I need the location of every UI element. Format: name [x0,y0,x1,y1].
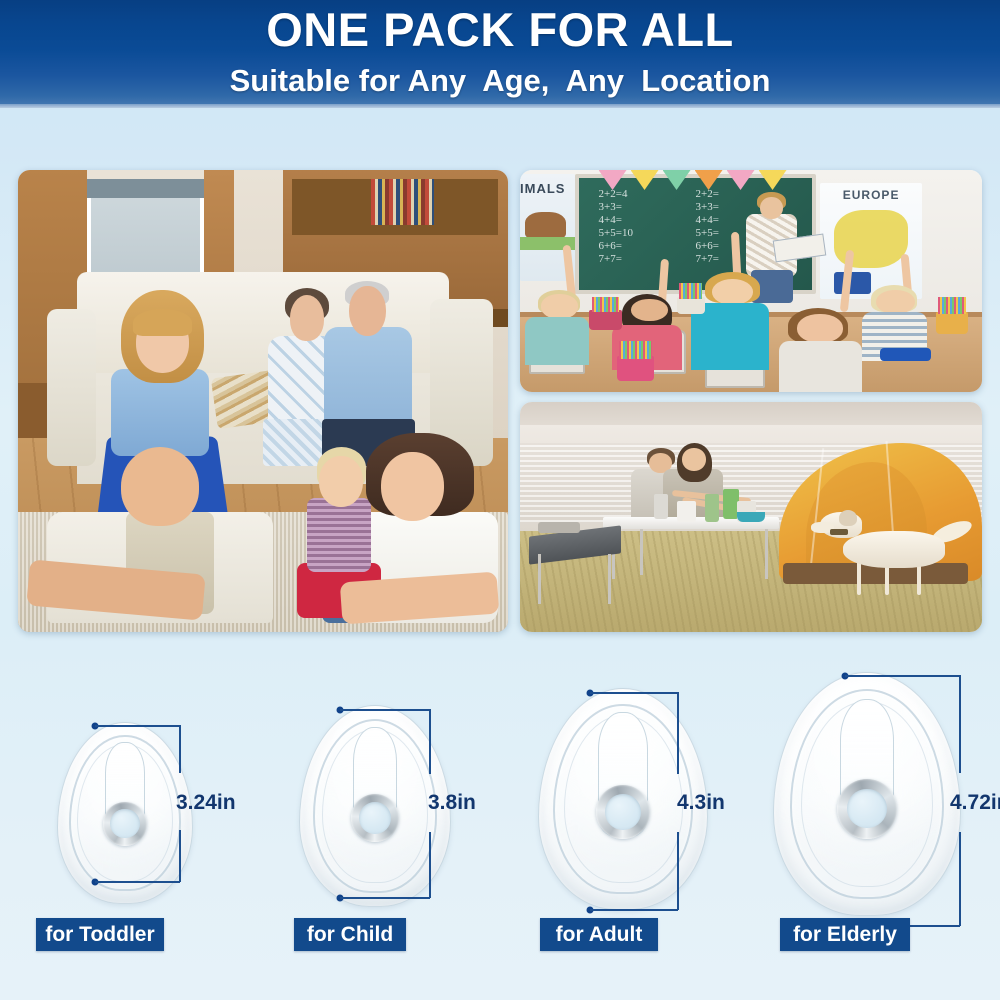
bunting-flags [599,170,807,190]
mask-port-opening [359,802,391,834]
size-column-toddler: 3.24in for Toddler [0,660,250,1000]
size-comparison-chart: 3.24in for Toddler [0,660,1000,1000]
scene-living-room [18,170,508,632]
header-banner: ONE PACK FOR ALL Suitable for Any Age, A… [0,0,1000,108]
size-column-adult: 4.3in for Adult [498,660,748,1000]
mask-port-opening [605,794,641,830]
photo-classroom: IMALS EUROPE 2+2=4 3+3= 4+4= 5+5=10 6+6=… [520,170,982,392]
size-badge-child[interactable]: for Child [294,918,406,951]
poster-animals-label: IMALS [520,181,575,196]
page-title: ONE PACK FOR ALL [0,1,1000,58]
mask-elderly[interactable] [773,672,961,916]
photo-camping-by-lake [520,402,982,632]
infographic-page: ONE PACK FOR ALL Suitable for Any Age, A… [0,0,1000,1000]
size-column-elderly: 4.72in for Elderly [742,660,992,1000]
size-column-child: 3.8in for Child [250,660,500,1000]
chalkboard-sums-right: 2+2= 3+3= 4+4= 5+5= 6+6= 7+7= [696,188,719,266]
page-subtitle: Suitable for Any Age, Any Location [0,61,1000,101]
scene-classroom: IMALS EUROPE 2+2=4 3+3= 4+4= 5+5=10 6+6=… [520,170,982,392]
mask-port-opening [847,789,887,829]
mask-port-ring [351,794,399,842]
chalkboard-sums-left: 2+2=4 3+3= 4+4= 5+5=10 6+6= 7+7= [599,188,633,266]
dimension-label-adult: 4.3in [674,791,728,815]
photo-family-at-home [18,170,508,632]
size-badge-elderly[interactable]: for Elderly [780,918,910,951]
photo-collage: IMALS EUROPE 2+2=4 3+3= 4+4= 5+5=10 6+6=… [18,170,982,632]
mask-port-opening [110,809,139,838]
mask-port-ring [596,785,650,839]
dimension-label-elderly: 4.72in [947,791,1000,815]
size-badge-toddler[interactable]: for Toddler [36,918,164,951]
mask-port-ring [103,802,147,846]
dimension-label-child: 3.8in [425,791,479,815]
mask-port-ring [837,779,897,839]
size-badge-adult[interactable]: for Adult [540,918,658,951]
dimension-label-toddler: 3.24in [173,791,239,815]
scene-camping [520,402,982,632]
poster-europe-label: EUROPE [820,188,922,202]
